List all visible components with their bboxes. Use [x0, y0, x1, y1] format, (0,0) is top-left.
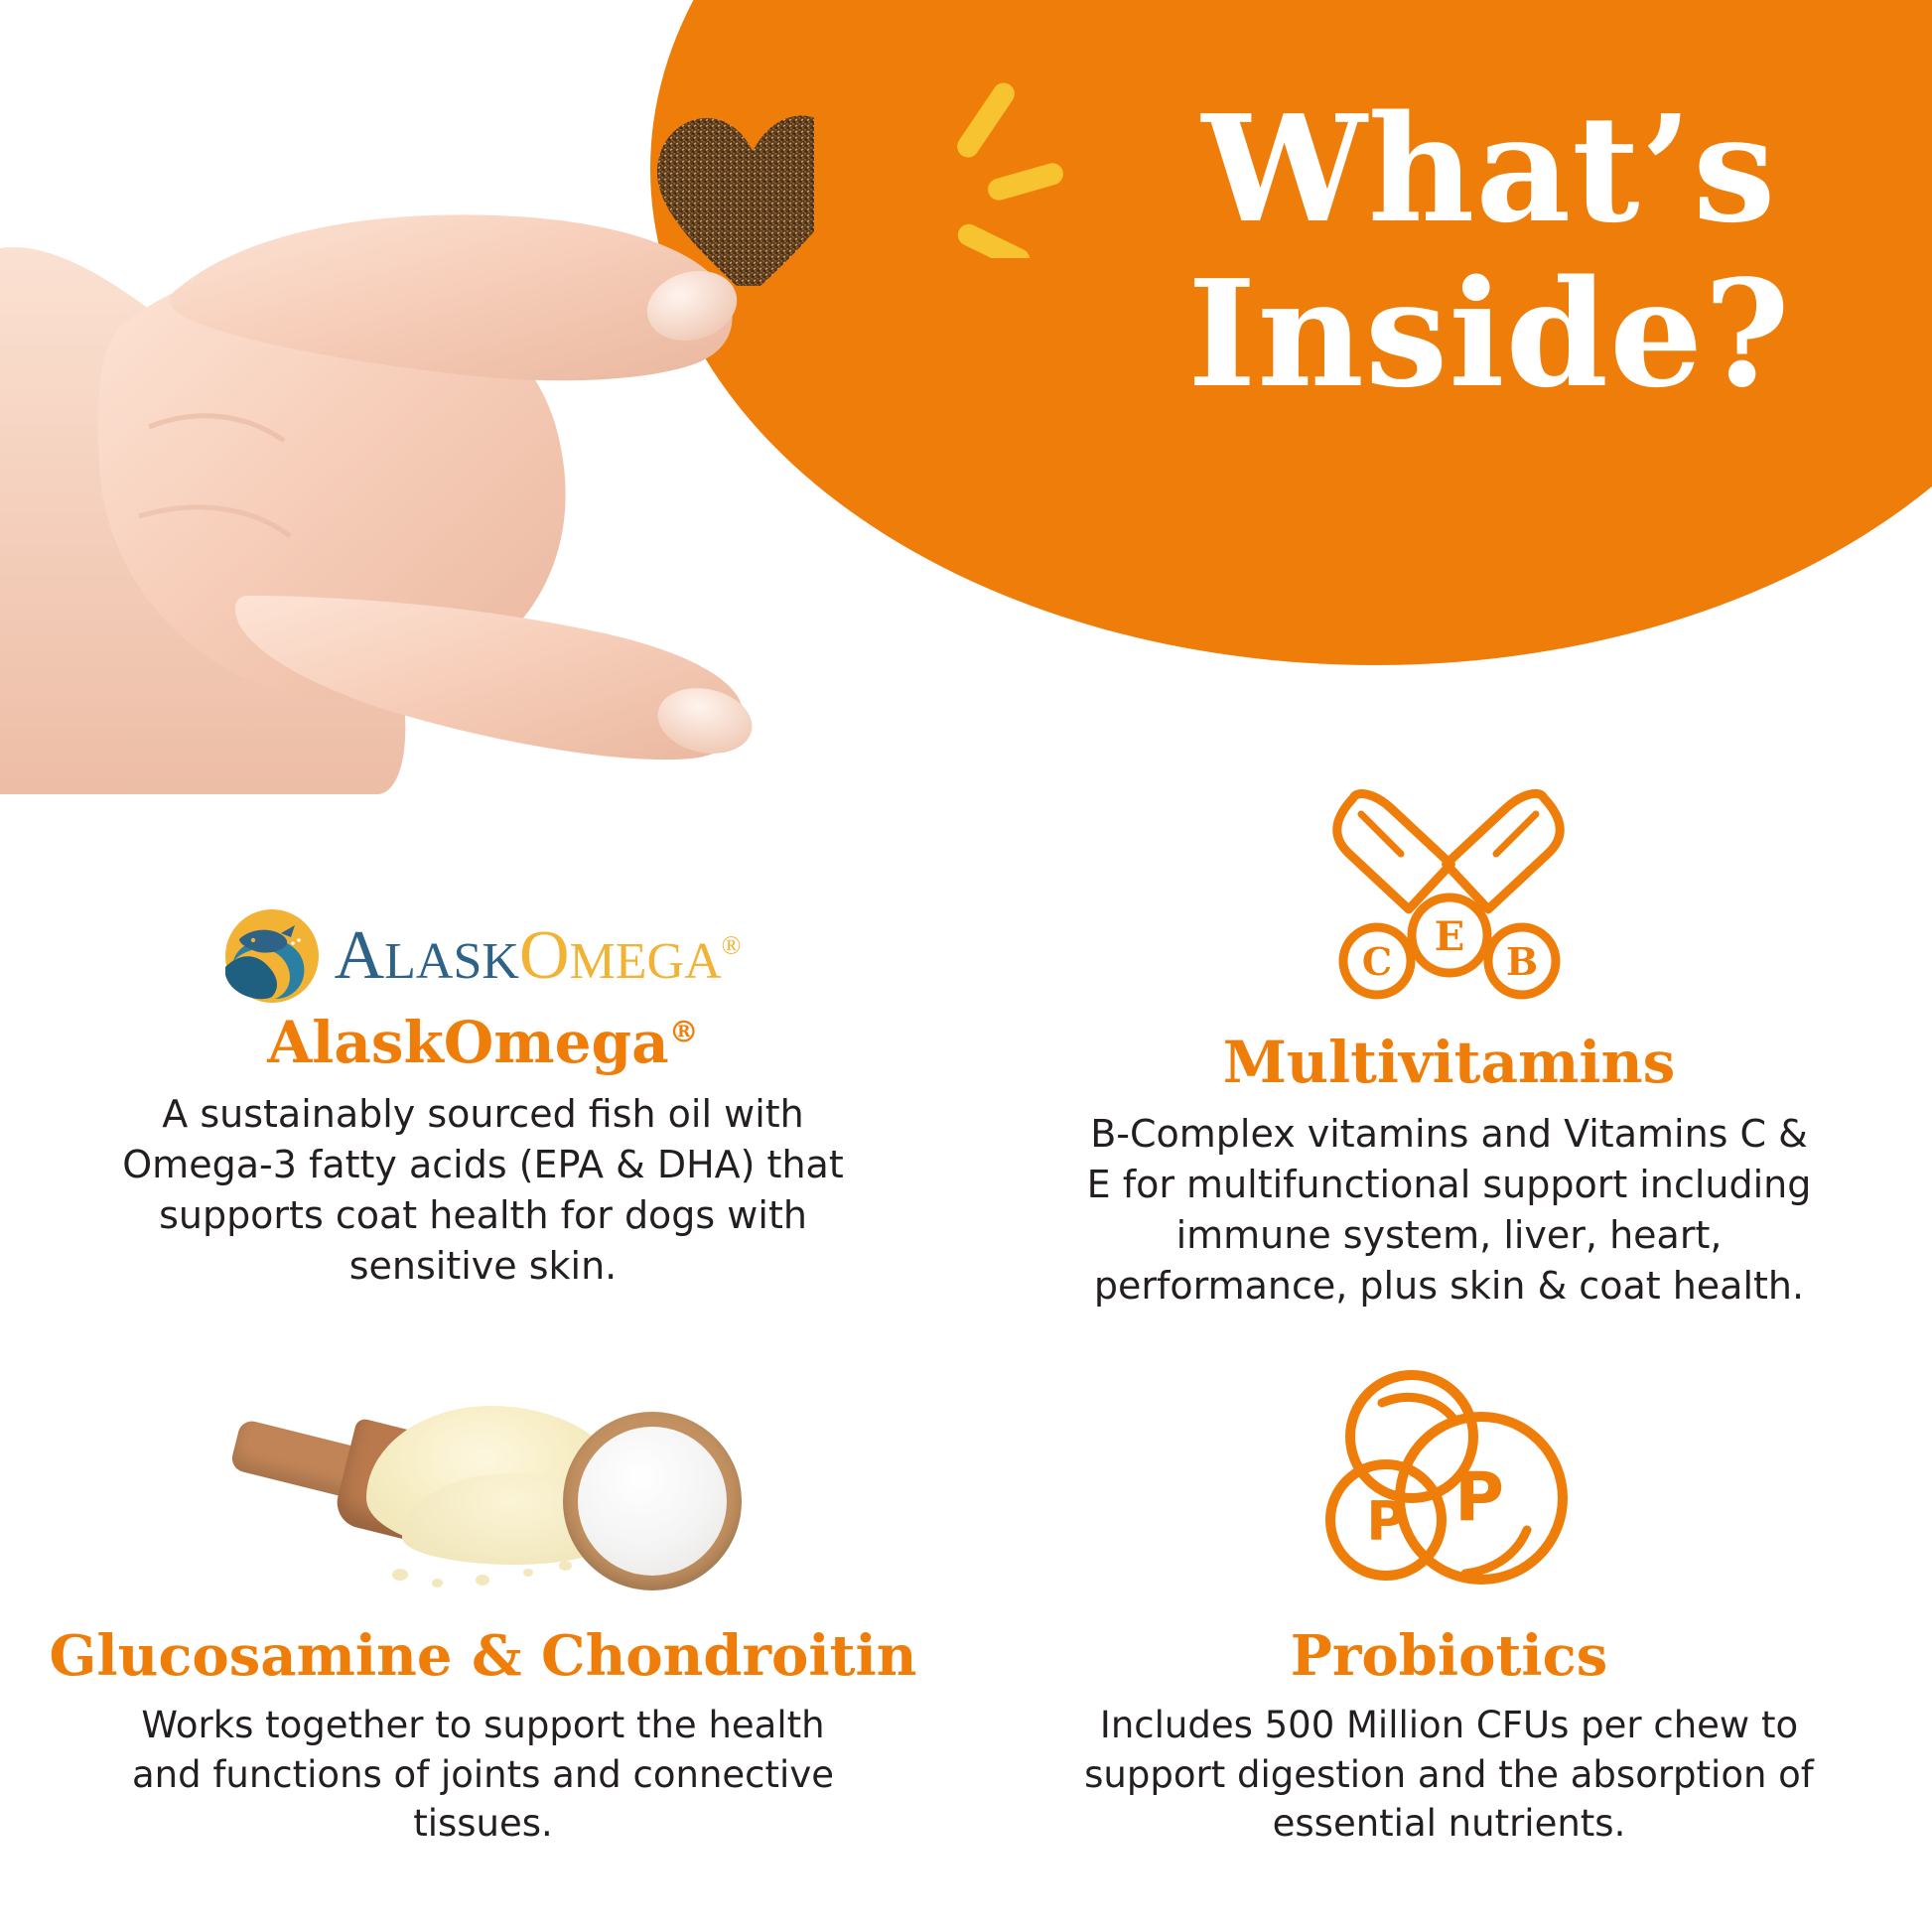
card-body-multivitamins: B-Complex vitamins and Vitamins C & E fo…: [1082, 1109, 1817, 1311]
hero-banner: What’s Inside?: [0, 0, 1932, 675]
powder-scoop-media: [40, 1349, 926, 1617]
multivitamins-icon-media: C E B: [1006, 755, 1892, 1023]
infographic-page: What’s Inside?: [0, 0, 1932, 1932]
powder-crumb: [432, 1579, 443, 1587]
alaskomega-logo: ALASKOMEGA®: [225, 909, 742, 1003]
logo-registered: ®: [722, 931, 742, 960]
ingredient-card-probiotics: P P Probiotics Includes 500 Million CFUs…: [966, 1349, 1932, 1850]
probiotics-icon-media: P P: [1006, 1349, 1892, 1617]
capsules-vitamins-icon: C E B: [1315, 774, 1584, 1003]
logo-a: A: [335, 917, 385, 994]
ingredient-card-alaskomega: ALASKOMEGA® AlaskOmega® A sustainably so…: [0, 755, 966, 1311]
white-powder: [578, 1427, 727, 1576]
probiotic-label-p-small: P: [1366, 1490, 1406, 1553]
ingredient-card-multivitamins: C E B Multivitamins B-Complex vitamins a…: [966, 755, 1932, 1311]
alaskomega-wordmark: ALASKOMEGA®: [335, 921, 742, 991]
card-body-alaskomega: A sustainably sourced fish oil with Omeg…: [116, 1089, 851, 1292]
logo-o: O: [519, 917, 570, 994]
logo-mega: MEGA: [570, 933, 722, 990]
capsule-label-e: E: [1434, 913, 1464, 960]
card-body-probiotics: Includes 500 Million CFUs per chew to su…: [1082, 1701, 1817, 1849]
probiotic-label-p-large: P: [1454, 1458, 1504, 1537]
powder-crumb: [392, 1569, 408, 1581]
card-title-text: AlaskOmega: [267, 1009, 668, 1076]
hand-with-treat-image: [0, 0, 814, 794]
powder-crumb: [523, 1569, 533, 1577]
card-title-probiotics: Probiotics: [1006, 1627, 1892, 1686]
card-title-multivitamins: Multivitamins: [1006, 1033, 1892, 1093]
ingredient-grid: ALASKOMEGA® AlaskOmega® A sustainably so…: [0, 755, 1932, 1849]
powder-crumb: [476, 1575, 489, 1586]
probiotic-circles-icon: P P: [1320, 1359, 1579, 1607]
page-title-line2: Inside?: [1072, 252, 1906, 417]
hand-illustration: [0, 0, 814, 794]
ingredient-card-glucosamine: Glucosamine & Chondroitin Works together…: [0, 1349, 966, 1850]
card-title-glucosamine: Glucosamine & Chondroitin: [40, 1627, 926, 1686]
powder-crumb: [559, 1561, 572, 1571]
page-title: What’s Inside?: [1072, 87, 1906, 417]
page-title-line1: What’s: [1202, 82, 1777, 255]
sparkle-icon: [953, 69, 1092, 258]
card-body-glucosamine: Works together to support the health and…: [116, 1701, 851, 1849]
wooden-bowl: [563, 1412, 742, 1590]
powder-scoop-photo: [225, 1364, 742, 1602]
logo-lask: LASK: [384, 933, 519, 990]
capsule-label-c: C: [1361, 939, 1391, 984]
card-title-alaskomega: AlaskOmega®: [40, 1013, 926, 1073]
capsule-label-b: B: [1505, 939, 1537, 984]
card-title-registered: ®: [669, 1016, 699, 1050]
alaskomega-badge-icon: [225, 909, 319, 1003]
